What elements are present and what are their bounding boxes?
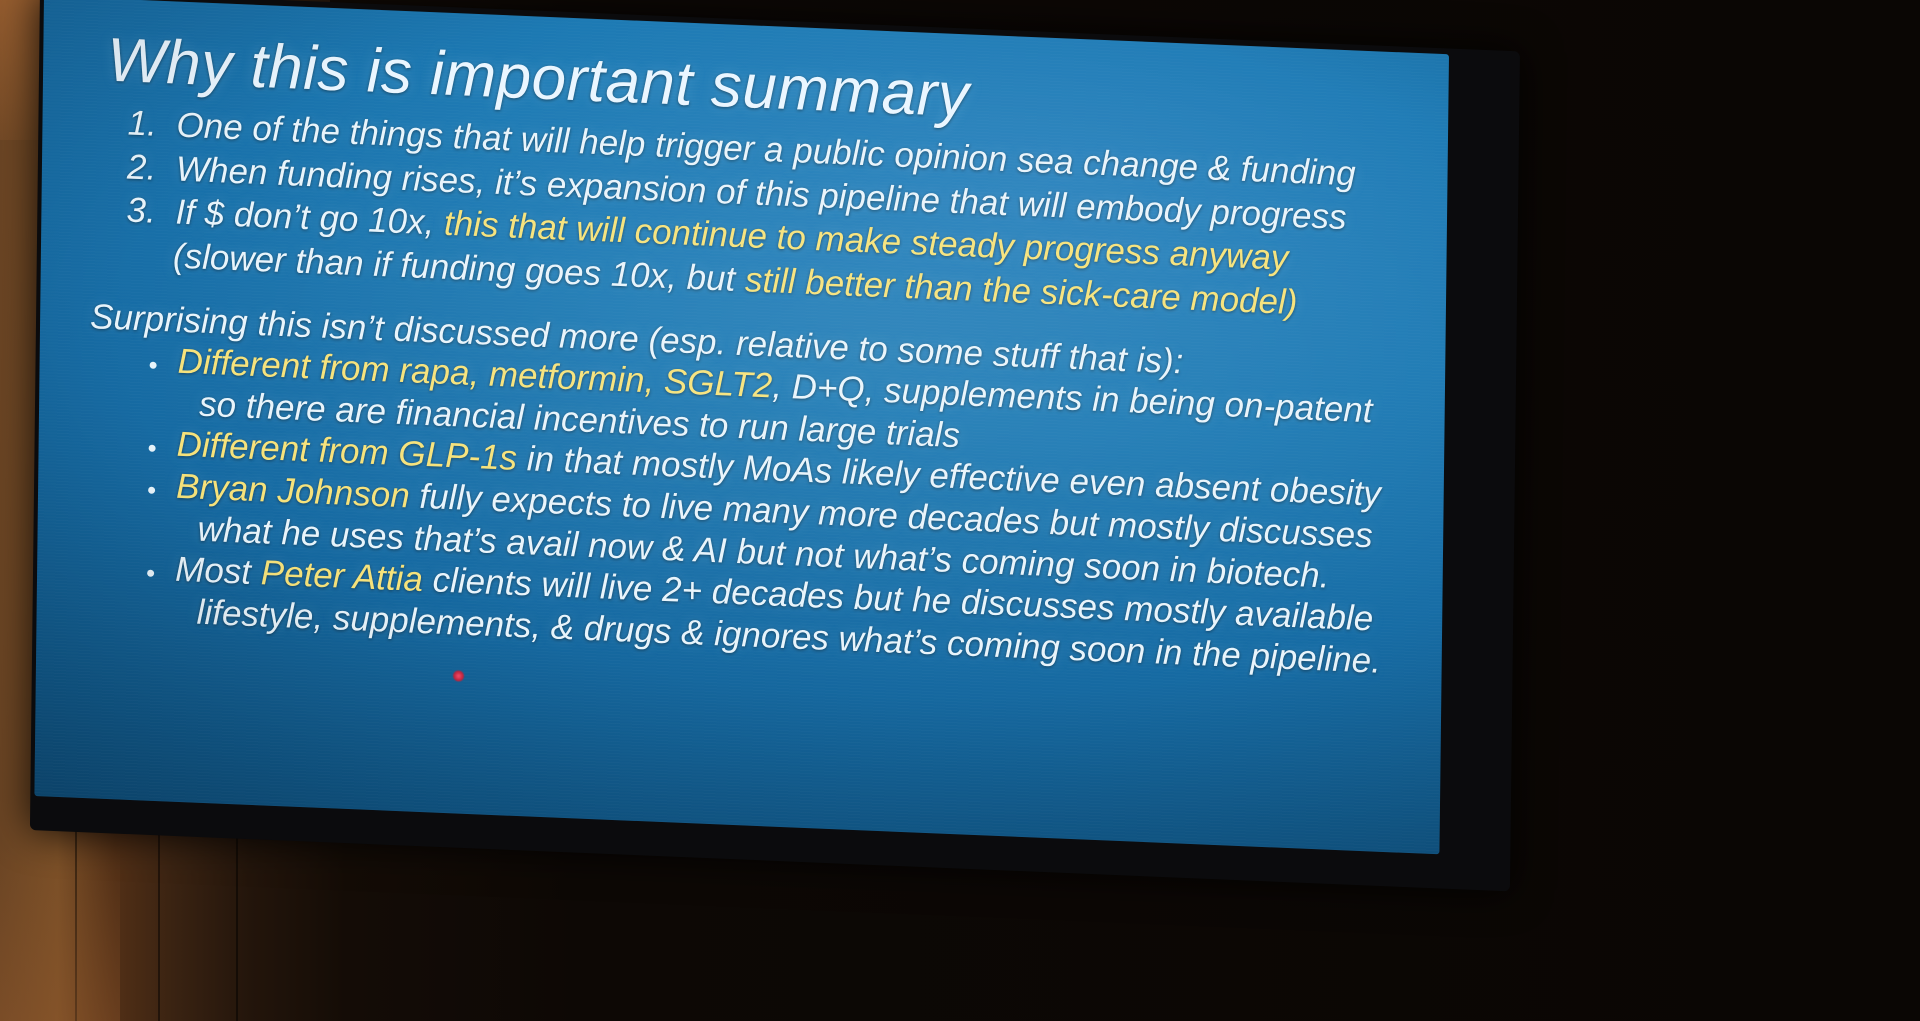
bullet-4-highlight: Peter Attia — [261, 554, 424, 600]
numbered-item-3-text-plain: If $ don’t go 10x, — [175, 193, 444, 243]
presentation-slide: Why this is important summary One of the… — [34, 0, 1449, 854]
laser-pointer-dot — [453, 670, 464, 681]
bullet-list: Different from rapa, metformin, SGLT2, D… — [122, 339, 1404, 684]
display-screen: Why this is important summary One of the… — [34, 0, 1449, 854]
presentation-display: Why this is important summary One of the… — [0, 0, 1920, 1021]
bullet-4-prefix: Most — [175, 550, 261, 593]
